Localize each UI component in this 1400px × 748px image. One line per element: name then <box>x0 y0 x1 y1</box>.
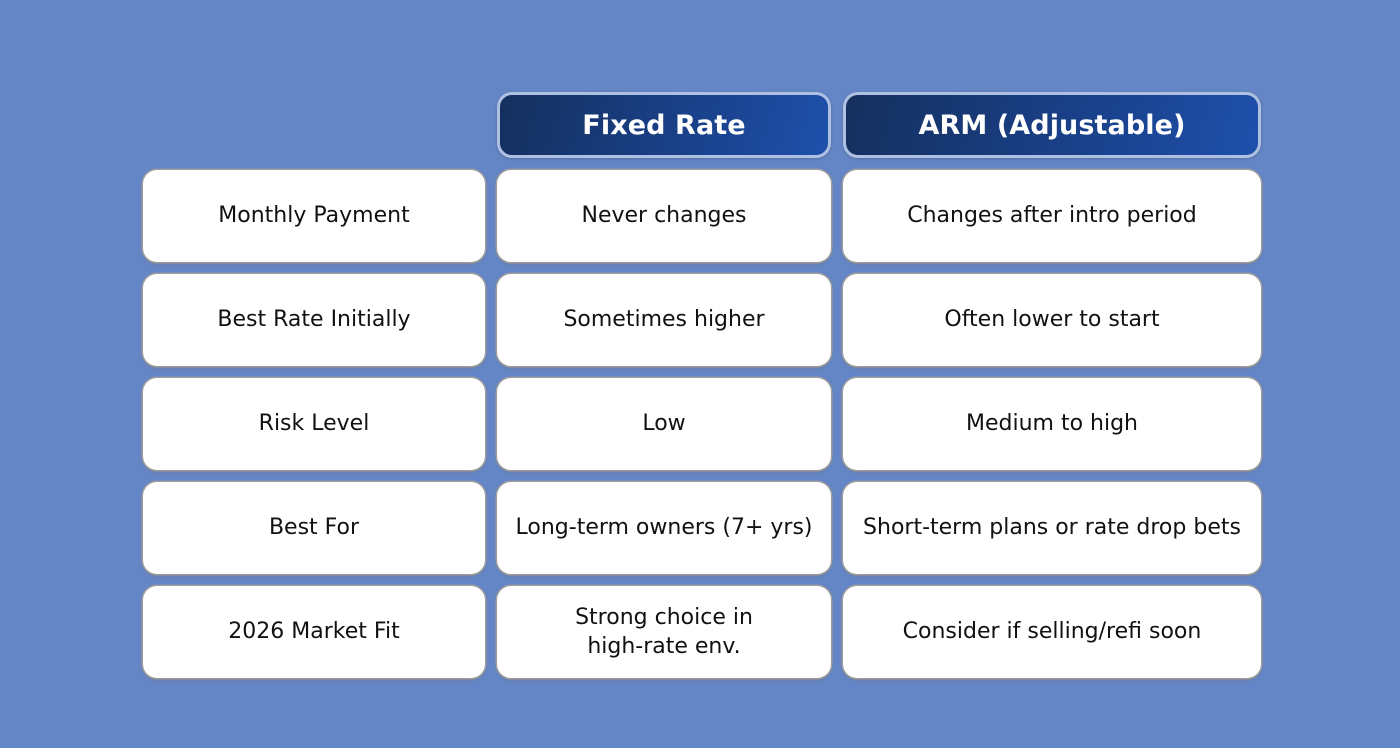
table-row: Best For Long-term owners (7+ yrs) Short… <box>143 482 1257 574</box>
row-fixed-cell[interactable]: Never changes <box>497 170 831 262</box>
row-fixed-cell[interactable]: Low <box>497 378 831 470</box>
table-row: Risk Level Low Medium to high <box>143 378 1257 470</box>
row-fixed-text: Never changes <box>581 201 746 230</box>
row-fixed-cell[interactable]: Sometimes higher <box>497 274 831 366</box>
row-arm-cell[interactable]: Consider if selling/refi soon <box>843 586 1261 678</box>
row-arm-text: Short-term plans or rate drop bets <box>863 513 1241 542</box>
column-header-arm[interactable]: ARM (Adjustable) <box>843 92 1261 158</box>
row-label-cell[interactable]: 2026 Market Fit <box>143 586 485 678</box>
row-fixed-text: Sometimes higher <box>563 305 764 334</box>
table-row: Best Rate Initially Sometimes higher Oft… <box>143 274 1257 366</box>
row-arm-text: Consider if selling/refi soon <box>903 617 1202 646</box>
row-label-cell[interactable]: Risk Level <box>143 378 485 470</box>
column-header-arm-label: ARM (Adjustable) <box>918 110 1185 141</box>
row-fixed-cell[interactable]: Strong choice in high-rate env. <box>497 586 831 678</box>
row-label-cell[interactable]: Best For <box>143 482 485 574</box>
comparison-table-canvas: Fixed Rate ARM (Adjustable) Monthly Paym… <box>0 0 1400 748</box>
row-fixed-cell[interactable]: Long-term owners (7+ yrs) <box>497 482 831 574</box>
comparison-table: Fixed Rate ARM (Adjustable) Monthly Paym… <box>143 92 1257 678</box>
row-arm-cell[interactable]: Often lower to start <box>843 274 1261 366</box>
row-label-cell[interactable]: Monthly Payment <box>143 170 485 262</box>
column-header-fixed-rate-label: Fixed Rate <box>582 110 745 141</box>
header-empty-corner <box>143 92 485 158</box>
table-row: 2026 Market Fit Strong choice in high-ra… <box>143 586 1257 678</box>
row-label-text: 2026 Market Fit <box>228 617 399 646</box>
column-header-fixed-rate[interactable]: Fixed Rate <box>497 92 831 158</box>
row-arm-text: Changes after intro period <box>907 201 1197 230</box>
row-fixed-text: Long-term owners (7+ yrs) <box>516 513 813 542</box>
row-arm-cell[interactable]: Changes after intro period <box>843 170 1261 262</box>
table-header-row: Fixed Rate ARM (Adjustable) <box>143 92 1257 158</box>
row-fixed-text: Strong choice in high-rate env. <box>575 603 753 662</box>
row-fixed-text: Low <box>642 409 685 438</box>
row-label-cell[interactable]: Best Rate Initially <box>143 274 485 366</box>
row-arm-text: Medium to high <box>966 409 1138 438</box>
row-arm-cell[interactable]: Short-term plans or rate drop bets <box>843 482 1261 574</box>
row-arm-cell[interactable]: Medium to high <box>843 378 1261 470</box>
row-label-text: Best For <box>269 513 359 542</box>
table-row: Monthly Payment Never changes Changes af… <box>143 170 1257 262</box>
row-label-text: Risk Level <box>259 409 370 438</box>
row-label-text: Monthly Payment <box>218 201 409 230</box>
row-arm-text: Often lower to start <box>944 305 1159 334</box>
row-label-text: Best Rate Initially <box>217 305 410 334</box>
